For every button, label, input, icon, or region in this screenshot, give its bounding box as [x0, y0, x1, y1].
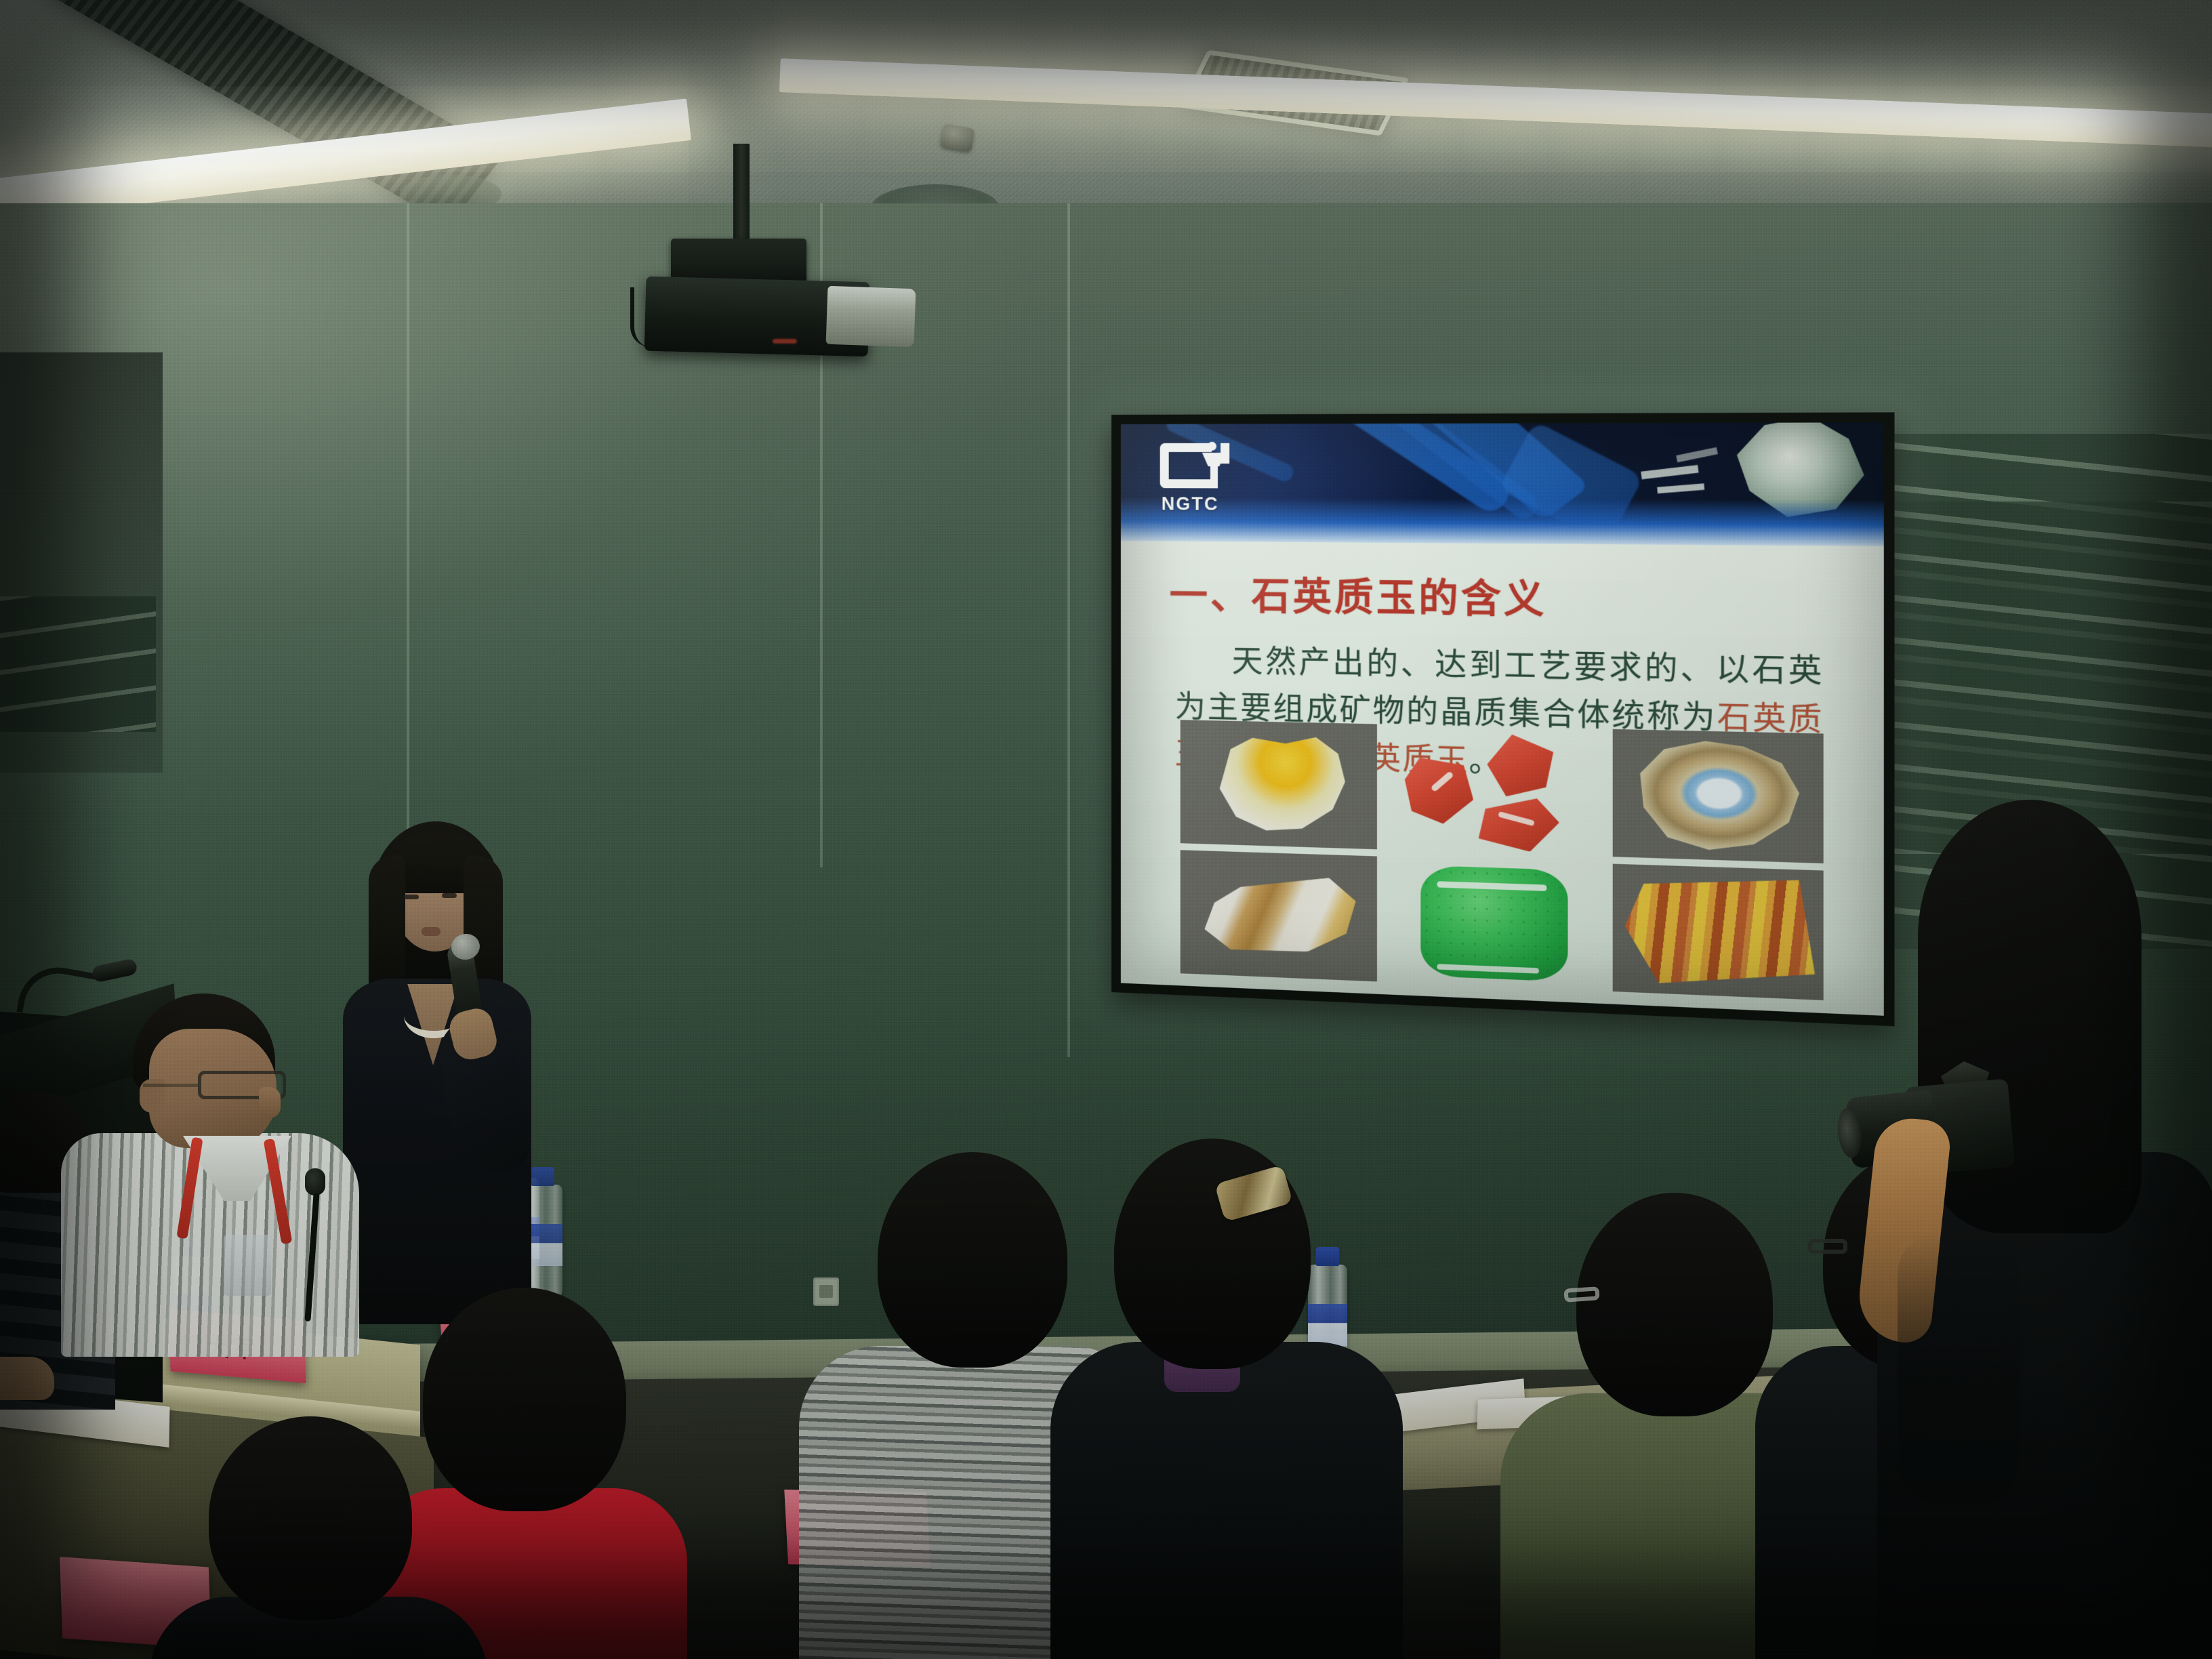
- audience-head: [209, 1416, 412, 1620]
- logo-text: NGTC: [1162, 493, 1219, 515]
- slide-banner: NGTC: [1121, 422, 1884, 546]
- projector-cable: [630, 287, 653, 347]
- red-carnelian-pebble-icon: [1473, 797, 1559, 853]
- blue-banded-agate-icon: [1633, 737, 1806, 855]
- projector-power-led: [773, 339, 797, 344]
- logo-stem: [1210, 466, 1218, 488]
- desk-microphone-head: [305, 1168, 325, 1195]
- ngtc-logo-icon: NGTC: [1160, 443, 1231, 520]
- left-person-hand: [0, 1357, 54, 1400]
- wall-panel-seam: [1067, 203, 1070, 1057]
- projection-screen: NGTC 一、石英质玉的含义 天然产出的、达到工艺要求的、以石英为主要组成矿物的…: [1111, 412, 1894, 1026]
- yellow-white-quartz-geode-icon: [1212, 733, 1349, 836]
- logo-dot: [1208, 442, 1216, 451]
- specimen-cell-banded-chalcedony-slab: [1181, 850, 1378, 981]
- specimen-cell-yellow-white-quartz-geode: [1181, 720, 1378, 849]
- banner-shard: [1676, 447, 1718, 462]
- banded-chalcedony-slab-icon: [1201, 876, 1360, 956]
- photographer-arm-shadow: [1898, 1233, 2020, 1504]
- louvered-wall-panel-left: [0, 596, 156, 732]
- audience-head: [1576, 1193, 1773, 1416]
- glasses-icon: [1563, 1286, 1599, 1303]
- projector-lens-icon: [826, 286, 916, 347]
- specimen-cell-green-chrysoprase-cabochon: [1393, 857, 1597, 991]
- specimen-cell-blue-banded-agate: [1612, 729, 1823, 863]
- conference-room-photo: NGTC 一、石英质玉的含义 天然产出的、达到工艺要求的、以石英为主要组成矿物的…: [0, 0, 2212, 1659]
- photographer: [1857, 800, 2212, 1659]
- logo-bracket-mark: [1160, 443, 1212, 489]
- specimen-cell-orange-striped-agate: [1612, 864, 1823, 1000]
- banner-shard: [1641, 465, 1698, 479]
- presenter-hair-left: [369, 855, 405, 999]
- banner-shard-group: [1641, 447, 1737, 504]
- specimen-cell-red-carnelian-pebbles: [1393, 724, 1597, 857]
- projector-mount-pole: [733, 144, 750, 245]
- specimen-image-grid: [1181, 720, 1824, 1000]
- red-carnelian-pebble-icon: [1405, 757, 1473, 824]
- seated-panelist: [54, 994, 373, 1346]
- paragraph-indent: [1175, 671, 1231, 672]
- panelist-nose: [259, 1087, 281, 1118]
- slide-title: 一、石英质玉的含义: [1158, 565, 1843, 629]
- presentation-slide: NGTC 一、石英质玉的含义 天然产出的、达到工艺要求的、以石英为主要组成矿物的…: [1121, 422, 1884, 1016]
- slide-body: 一、石英质玉的含义 天然产出的、达到工艺要求的、以石英为主要组成矿物的晶质集合体…: [1121, 541, 1884, 1016]
- audience-head: [878, 1152, 1067, 1368]
- glasses-icon: [1808, 1239, 1847, 1254]
- orange-striped-agate-icon: [1625, 874, 1815, 989]
- audience-member-hair-clip: [1064, 1139, 1376, 1659]
- id-badge: [224, 1235, 271, 1296]
- audience-member-foreground-left: [169, 1416, 454, 1659]
- banner-gradient-fade: [1121, 497, 1884, 546]
- presenter-eye: [442, 893, 457, 898]
- banner-shard: [1657, 483, 1704, 493]
- presenter-mouth: [422, 927, 441, 936]
- presenter-eye: [404, 895, 419, 899]
- red-carnelian-pebble-icon: [1486, 734, 1559, 799]
